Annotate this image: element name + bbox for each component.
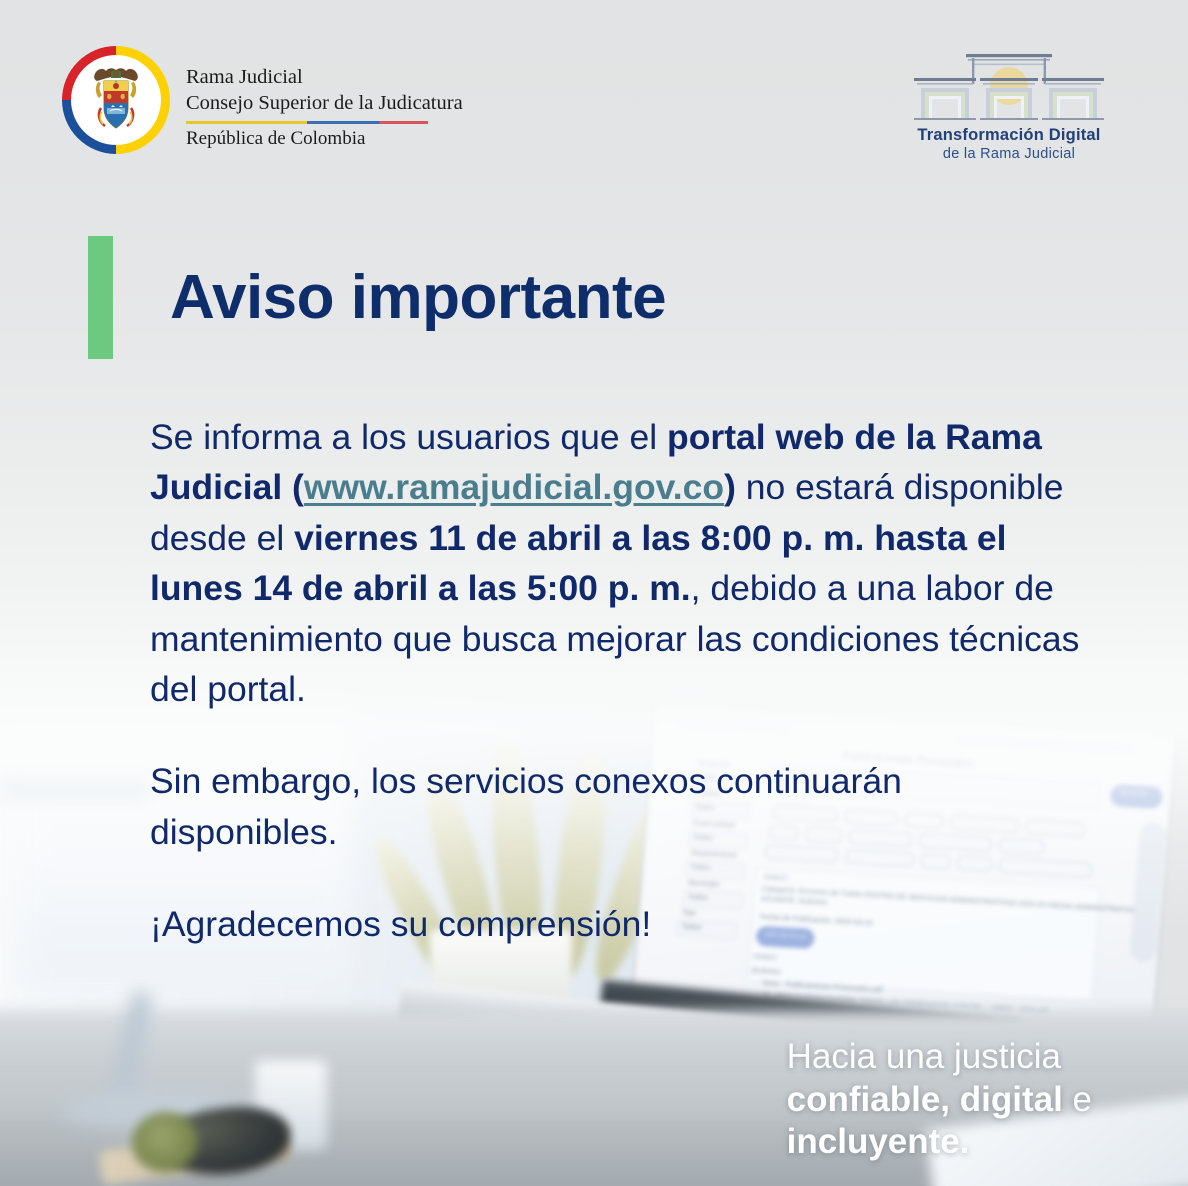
brand-line-republica-de-colombia: República de Colombia [186, 128, 463, 150]
notice-paragraph-3: ¡Agradecemos su comprensión! [150, 899, 1095, 949]
poster-canvas: Publicaciones Procesales BUSCAR Despacho… [0, 0, 1188, 1186]
tagline-line-2-bold: confiable, digital [787, 1080, 1063, 1119]
ramajudicial-portal-link[interactable]: www.ramajudicial.gov.co [304, 467, 724, 507]
paragraph-spacer [150, 714, 1095, 756]
colombia-tricolor-divider [186, 121, 428, 124]
tagline-line-2-light: e [1063, 1080, 1092, 1119]
photo-window-frame [0, 780, 150, 796]
brand-line-consejo-superior: Consejo Superior de la Judicatura [186, 90, 463, 116]
brand-text-block: Rama Judicial Consejo Superior de la Jud… [186, 46, 463, 150]
transformacion-digital-title: Transformación Digital [898, 126, 1120, 145]
courthouse-arches-icon [904, 50, 1114, 122]
notice-paragraph-2: Sin embargo, los servicios conexos conti… [150, 756, 1095, 857]
transformacion-digital-brand: Transformación Digital de la Rama Judici… [898, 50, 1120, 163]
page-title: Aviso importante [170, 267, 666, 329]
paragraph-spacer [150, 857, 1095, 899]
notice-body: Se informa a los usuarios que el portal … [150, 412, 1095, 950]
tagline-line-3: incluyente. [787, 1121, 1092, 1164]
colombia-coat-of-arms-icon [62, 46, 170, 154]
campaign-tagline: Hacia una justicia confiable, digital e … [787, 1036, 1092, 1164]
notice-p1-seg1: Se informa a los usuarios que el [150, 417, 667, 457]
notice-paragraph-1: Se informa a los usuarios que el portal … [150, 412, 1095, 714]
poster-header: Rama Judicial Consejo Superior de la Jud… [0, 0, 1188, 185]
notice-p1-bold2: ) [724, 467, 736, 507]
transformacion-digital-subtitle: de la Rama Judicial [898, 145, 1120, 163]
green-accent-bar [88, 236, 113, 359]
brand-line-rama-judicial: Rama Judicial [186, 64, 463, 90]
title-block: Aviso importante [88, 236, 666, 359]
rama-judicial-brand: Rama Judicial Consejo Superior de la Jud… [62, 46, 463, 154]
tagline-line-1: Hacia una justicia [787, 1036, 1092, 1079]
tagline-line-2: confiable, digital e [787, 1079, 1092, 1122]
